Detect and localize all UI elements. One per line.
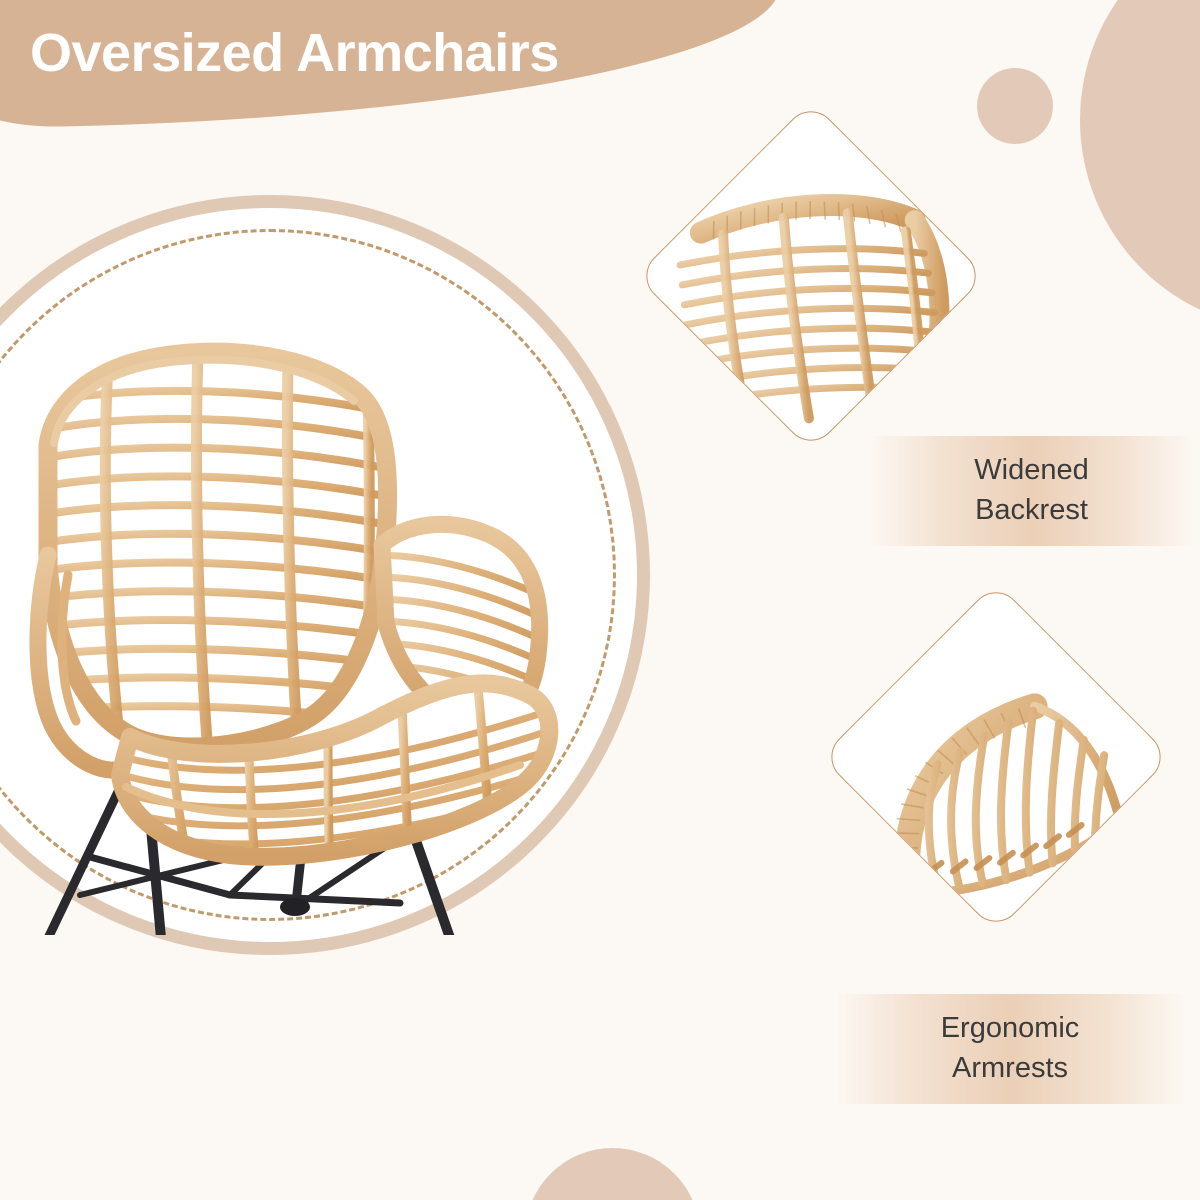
caption-widened-backrest: Widened Backrest	[869, 436, 1194, 546]
caption-line-1: Widened	[895, 450, 1168, 490]
page-title: Oversized Armchairs	[30, 22, 559, 84]
deco-circle-bottom	[525, 1148, 700, 1200]
caption-ergonomic-armrests: Ergonomic Armrests	[835, 994, 1185, 1104]
caption-line-1: Ergonomic	[861, 1008, 1159, 1048]
product-infographic: Oversized Armchairs	[0, 0, 1200, 1200]
caption-line-2: Armrests	[861, 1048, 1159, 1088]
deco-circle-large	[1080, 0, 1200, 330]
caption-line-2: Backrest	[895, 490, 1168, 530]
rattan-armchair-hero	[0, 255, 620, 935]
backrest-closeup	[659, 125, 963, 429]
feature-card-backrest[interactable]	[636, 101, 987, 452]
feature-card-armrest[interactable]	[821, 582, 1172, 933]
deco-circle-small	[977, 68, 1053, 144]
armrest-closeup	[844, 606, 1148, 910]
hero-product-circle	[0, 195, 650, 955]
